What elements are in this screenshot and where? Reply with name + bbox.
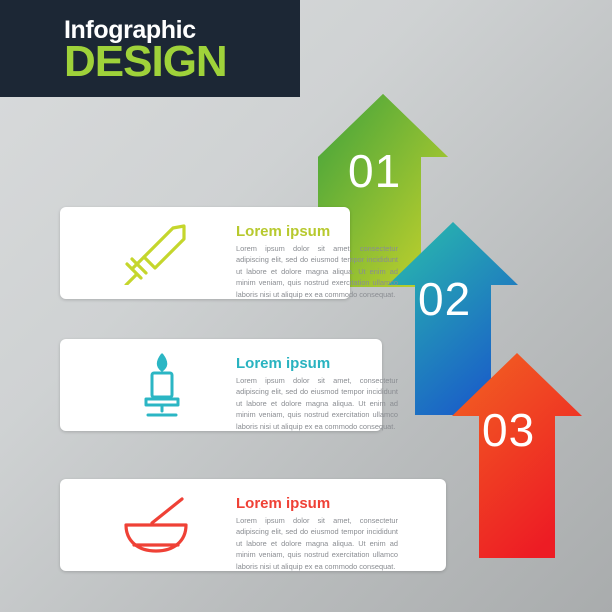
step-number-02: 02: [418, 272, 471, 326]
infographic-canvas: Infographic DESIGN 01: [0, 0, 612, 612]
card-body-01: Lorem ipsum dolor sit amet, consectetur …: [236, 243, 398, 300]
card-body-02: Lorem ipsum dolor sit amet, consectetur …: [236, 375, 398, 432]
card-body-03: Lorem ipsum dolor sit amet, consectetur …: [236, 515, 398, 572]
sword-icon: [122, 223, 190, 285]
candle-icon: [136, 353, 204, 415]
step-number-03: 03: [482, 403, 535, 457]
card-step-01[interactable]: Lorem ipsum Lorem ipsum dolor sit amet, …: [60, 207, 350, 299]
card-step-02[interactable]: Lorem ipsum Lorem ipsum dolor sit amet, …: [60, 339, 382, 431]
card-title-02: Lorem ipsum: [236, 355, 330, 372]
card-title-03: Lorem ipsum: [236, 495, 330, 512]
card-step-03[interactable]: Lorem ipsum Lorem ipsum dolor sit amet, …: [60, 479, 446, 571]
step-number-01: 01: [348, 144, 401, 198]
page-subtitle: DESIGN: [64, 40, 227, 84]
mortar-and-pestle-icon: [122, 497, 190, 559]
header-banner: Infographic DESIGN: [0, 0, 300, 97]
arrow-step-03[interactable]: 03: [452, 353, 582, 558]
card-title-01: Lorem ipsum: [236, 223, 330, 240]
